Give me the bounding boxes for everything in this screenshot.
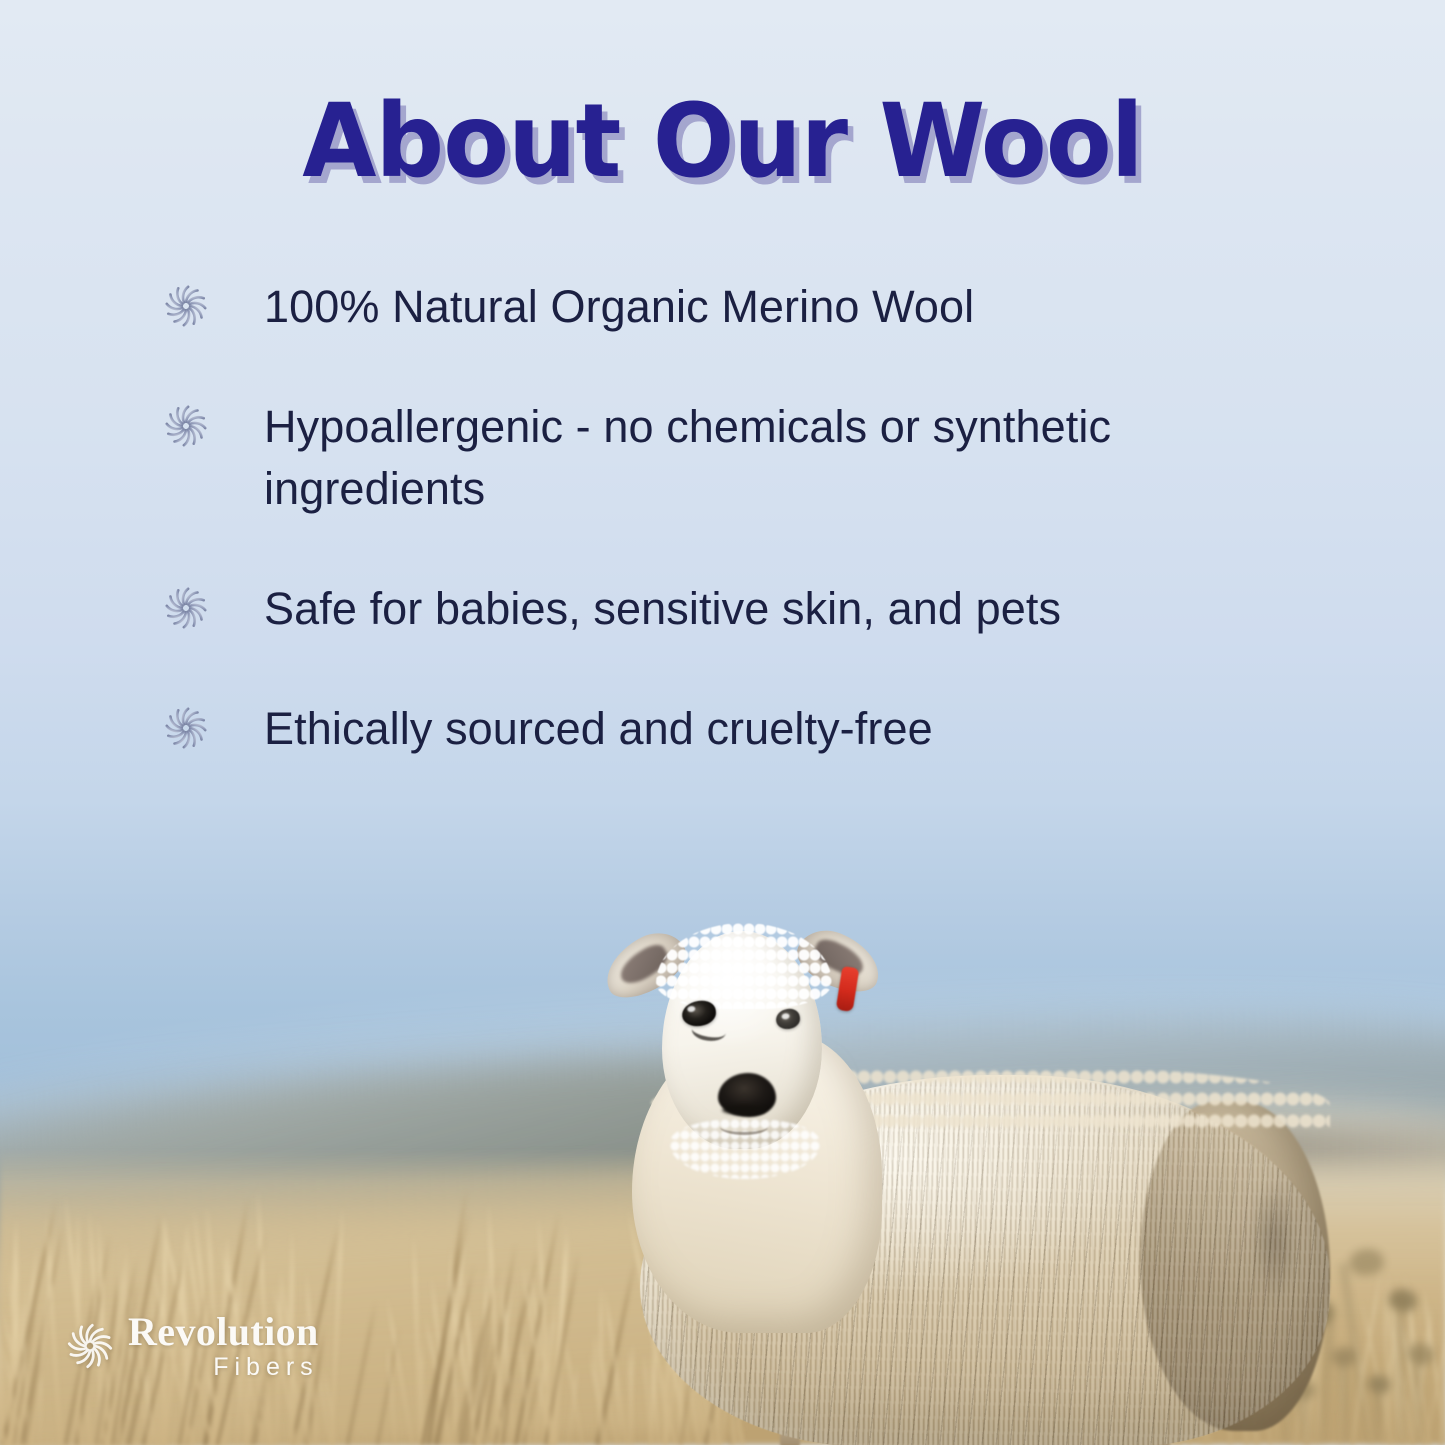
list-item-label: Ethically sourced and cruelty-free — [264, 698, 933, 760]
brand-wordmark: Revolution Fibers — [128, 1312, 319, 1380]
feature-list: 100% Natural Organic Merino Wool — [160, 276, 1300, 760]
list-item: Ethically sourced and cruelty-free — [160, 698, 1300, 760]
list-item: 100% Natural Organic Merino Wool — [160, 276, 1300, 338]
list-item-label: Hypoallergenic - no chemicals or synthet… — [264, 396, 1264, 520]
page-title: About Our Wool — [43, 88, 1401, 195]
spiral-fiber-icon — [62, 1318, 118, 1374]
poster-content: About Our Wool — [0, 0, 1445, 1445]
spiral-fiber-icon — [160, 400, 212, 452]
spiral-fiber-icon — [160, 582, 212, 634]
brand-name-secondary: Fibers — [128, 1355, 319, 1380]
poster: About Our Wool — [0, 0, 1445, 1445]
list-item: Safe for babies, sensitive skin, and pet… — [160, 578, 1300, 640]
list-item: Hypoallergenic - no chemicals or synthet… — [160, 396, 1300, 520]
spiral-fiber-icon — [160, 702, 212, 754]
list-item-label: 100% Natural Organic Merino Wool — [264, 276, 974, 338]
brand-name-primary: Revolution — [128, 1312, 319, 1352]
brand-watermark: Revolution Fibers — [62, 1312, 319, 1380]
spiral-fiber-icon — [160, 280, 212, 332]
list-item-label: Safe for babies, sensitive skin, and pet… — [264, 578, 1061, 640]
